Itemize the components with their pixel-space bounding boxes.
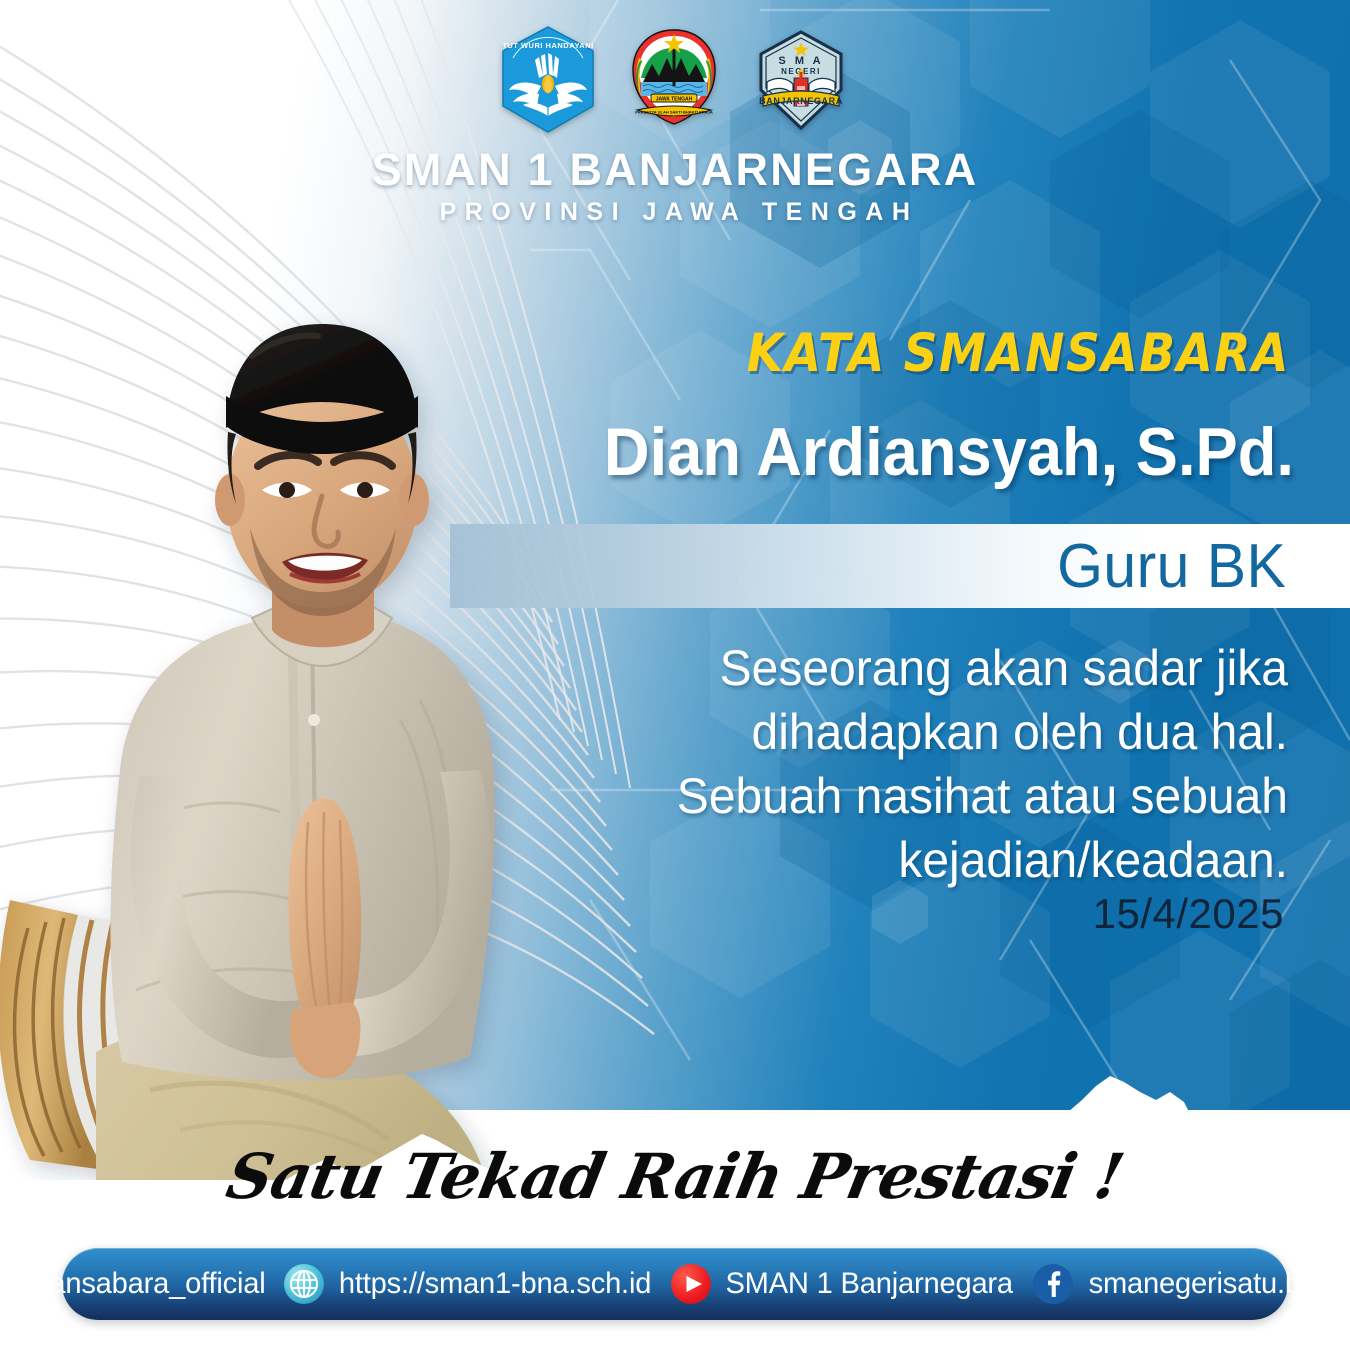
svg-text:PRASETYA ULAH SAKTI BHAKTI PRA: PRASETYA ULAH SAKTI BHAKTI PRAJA <box>635 110 713 115</box>
tut-wuri-handayani-logo: TUT WURI HANDAYANI <box>493 24 603 136</box>
social-label-instagram: smansabara_official <box>11 1267 266 1301</box>
social-label-website: https://sman1-bna.sch.id <box>339 1267 651 1301</box>
sma-negeri-banjarnegara-crest-logo: S M A NEGERI BANJARNEGARA <box>745 24 857 136</box>
quote-line: Seseorang akan sadar jika <box>635 636 1288 700</box>
social-item-facebook[interactable]: smanegerisatu.banjarnegara <box>1032 1263 1350 1305</box>
province-name: PROVINSI JAWA TENGAH <box>0 198 1350 227</box>
globe-icon[interactable] <box>283 1263 325 1305</box>
quote-line: kejadian/keadaan. <box>635 828 1288 892</box>
facebook-icon[interactable] <box>1032 1263 1074 1305</box>
quote-date: 15/4/2025 <box>1093 890 1284 938</box>
svg-text:TUT WURI HANDAYANI: TUT WURI HANDAYANI <box>502 41 593 50</box>
person-name: Dian Ardiansyah, S.Pd. <box>604 418 1294 486</box>
svg-text:JAWA TENGAH: JAWA TENGAH <box>656 97 693 103</box>
svg-text:BANJARNEGARA: BANJARNEGARA <box>759 96 843 106</box>
quote-text: Seseorang akan sadar jika dihadapkan ole… <box>635 636 1288 892</box>
social-label-youtube: SMAN 1 Banjarnegara <box>726 1267 1013 1301</box>
kata-smansabara-title: KATA SMANSABARA <box>747 323 1290 385</box>
social-label-facebook: smanegerisatu.banjarnegara <box>1088 1267 1350 1301</box>
social-media-bar[interactable]: smansabara_official <box>62 1248 1288 1320</box>
youtube-icon[interactable] <box>670 1263 712 1305</box>
svg-text:S M A: S M A <box>778 55 823 67</box>
school-name: SMAN 1 BANJARNEGARA <box>0 144 1350 196</box>
poster-canvas: TUT WURI HANDAYANI <box>0 0 1350 1350</box>
social-item-website[interactable]: https://sman1-bna.sch.id <box>283 1263 656 1305</box>
quote-line: dihadapkan oleh dua hal. <box>635 700 1288 764</box>
jawa-tengah-emblem-logo: JAWA TENGAH PRASETYA ULAH SAKTI BHAKTI P… <box>619 24 729 136</box>
logo-row: TUT WURI HANDAYANI <box>0 18 1350 136</box>
header: TUT WURI HANDAYANI <box>0 18 1350 227</box>
social-item-youtube[interactable]: SMAN 1 Banjarnegara <box>670 1263 1017 1305</box>
tagline: Satu Tekad Raih Prestasi ! <box>0 1140 1350 1213</box>
quote-line: Sebuah nasihat atau sebuah <box>635 764 1288 828</box>
social-item-instagram[interactable]: smansabara_official <box>0 1263 269 1305</box>
role-label: Guru BK <box>1057 529 1286 605</box>
